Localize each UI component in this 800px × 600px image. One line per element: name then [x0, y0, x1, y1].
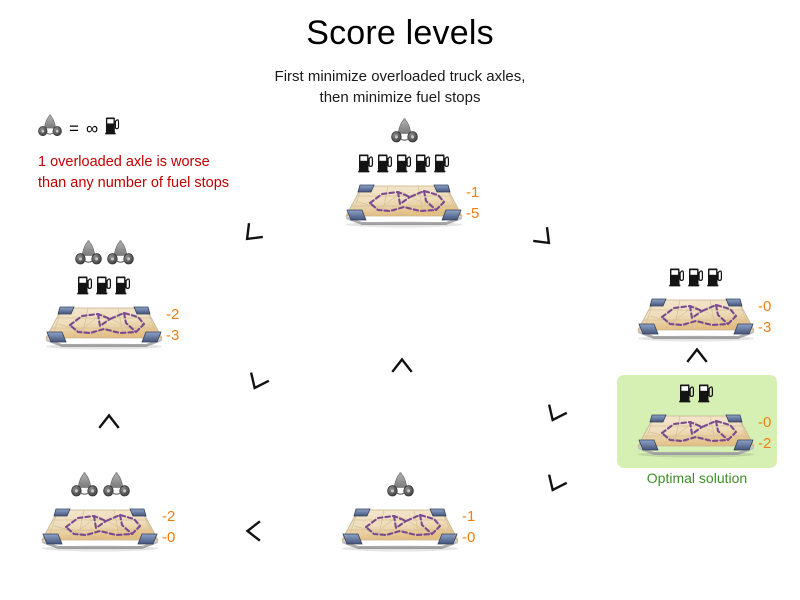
fuel-pump-icon: [115, 275, 131, 300]
fuel-pump-icon: [679, 383, 695, 408]
solution-node-top-center: -1-5: [340, 118, 468, 228]
soft-score: -5: [466, 203, 479, 224]
fuel-pump-glyph: [358, 153, 374, 173]
overloaded-axle-icon: [71, 472, 98, 502]
subtitle-line-1: First minimize overloaded truck axles,: [0, 66, 800, 87]
fuel-pump-glyph: [105, 116, 120, 135]
less-than-operator-right-upper: [680, 338, 714, 372]
overloaded-axle-glyph: [391, 118, 418, 143]
overloaded-axle-icon: [387, 472, 414, 502]
fuel-pump-glyph: [415, 153, 431, 173]
less-than-glyph: [385, 348, 419, 382]
fuel-pump-glyph: [396, 153, 412, 173]
solution-node-bottom-left: -2-0: [36, 472, 164, 552]
route-map[interactable]: -2-3: [40, 302, 168, 350]
score-labels: -1-0: [462, 506, 475, 548]
legend-warning-note: 1 overloaded axle is worse than any numb…: [38, 152, 338, 193]
score-labels: -2-3: [166, 304, 179, 346]
overloaded-axle-icon: [103, 472, 130, 502]
hard-score: -1: [462, 506, 475, 527]
fuel-pump-icon: [96, 275, 112, 300]
soft-score: -3: [758, 317, 771, 338]
infinity-symbol: ∞: [86, 120, 98, 137]
fuel-pump-glyph: [679, 383, 695, 403]
soft-score: -3: [166, 325, 179, 346]
score-labels: -0-3: [758, 296, 771, 338]
score-labels: -0-2: [758, 412, 771, 454]
equals-sign: =: [69, 120, 79, 137]
less-than-glyph: [680, 338, 714, 372]
fuel-stop-icon-row: [40, 270, 168, 300]
hard-score: -0: [758, 412, 771, 433]
fuel-pump-icon: [669, 267, 685, 292]
less-than-operator-top-right: [528, 222, 562, 256]
overloaded-axle-glyph: [71, 472, 98, 497]
fuel-pump-icon: [377, 153, 393, 178]
soft-score: -2: [758, 433, 771, 454]
overloaded-axle-glyph: [387, 472, 414, 497]
overloaded-axle-icon: [75, 240, 102, 270]
fuel-stop-icon-row: [340, 148, 468, 178]
solution-node-left-upper: -2-3: [40, 240, 168, 350]
fuel-pump-icon: [358, 153, 374, 178]
overloaded-axle-glyph: [107, 240, 134, 265]
fuel-pump-icon: [105, 116, 120, 140]
vehicle-routing-map-glyph: [632, 294, 760, 342]
fuel-pump-glyph: [377, 153, 393, 173]
hard-score: -2: [166, 304, 179, 325]
page-title: Score levels: [0, 13, 800, 53]
overloaded-axle-icon: [38, 114, 62, 142]
less-than-glyph: [532, 392, 577, 437]
overloaded-axle-icon-row: [336, 472, 464, 502]
solution-node-bottom-center: -1-0: [336, 472, 464, 552]
less-than-glyph: [234, 360, 279, 405]
soft-score: -0: [162, 527, 175, 548]
page-subtitle: First minimize overloaded truck axles, t…: [0, 66, 800, 108]
less-than-operator-mid-left: [240, 366, 274, 400]
less-than-operator-top-left: [234, 218, 268, 252]
overloaded-axle-glyph: [103, 472, 130, 497]
less-than-operator-bottom: [236, 514, 270, 548]
less-than-glyph: [521, 215, 569, 263]
fuel-pump-icon: [688, 267, 704, 292]
route-map[interactable]: -0-3: [632, 294, 760, 342]
optimal-solution-label: Optimal solution: [617, 470, 777, 486]
fuel-pump-icon: [698, 383, 714, 408]
subtitle-line-2: then minimize fuel stops: [0, 87, 800, 108]
fuel-stop-icon-row: [632, 262, 760, 292]
fuel-pump-glyph: [707, 267, 723, 287]
hard-score: -1: [466, 182, 479, 203]
score-labels: -1-5: [466, 182, 479, 224]
fuel-pump-icon: [707, 267, 723, 292]
hard-score: -0: [758, 296, 771, 317]
hard-score: -2: [162, 506, 175, 527]
vehicle-routing-map-glyph: [336, 504, 464, 552]
fuel-pump-icon: [434, 153, 450, 178]
vehicle-routing-map-glyph: [40, 302, 168, 350]
fuel-pump-glyph: [434, 153, 450, 173]
legend: = ∞ 1 overloaded axle is worse than any …: [38, 113, 338, 193]
less-than-glyph: [92, 404, 126, 438]
fuel-pump-icon: [415, 153, 431, 178]
fuel-pump-glyph: [688, 267, 704, 287]
less-than-operator-lower-right: [538, 468, 572, 502]
less-than-glyph: [532, 462, 577, 507]
fuel-pump-glyph: [698, 383, 714, 403]
less-than-operator-center: [385, 348, 419, 382]
fuel-pump-glyph: [77, 275, 93, 295]
less-than-glyph: [236, 514, 270, 548]
score-labels: -2-0: [162, 506, 175, 548]
solution-node-right-upper: -0-3: [632, 262, 760, 342]
fuel-pump-icon: [77, 275, 93, 300]
soft-score: -0: [462, 527, 475, 548]
score-levels-diagram: Score levels First minimize overloaded t…: [0, 0, 800, 600]
overloaded-axle-glyph: [38, 114, 62, 137]
overloaded-axle-glyph: [75, 240, 102, 265]
legend-equation: = ∞: [38, 113, 338, 143]
vehicle-routing-map-glyph: [632, 410, 760, 458]
fuel-pump-glyph: [115, 275, 131, 295]
overloaded-axle-icon: [391, 118, 418, 148]
route-map[interactable]: -2-0: [36, 504, 164, 552]
overloaded-axle-icon: [107, 240, 134, 270]
route-map[interactable]: -1-0: [336, 504, 464, 552]
vehicle-routing-map-glyph: [36, 504, 164, 552]
less-than-operator-mid-right: [538, 398, 572, 432]
fuel-pump-glyph: [669, 267, 685, 287]
overloaded-axle-icon-row: [340, 118, 468, 148]
fuel-pump-icon: [396, 153, 412, 178]
less-than-glyph: [227, 211, 275, 259]
overloaded-axle-icon-row: [36, 472, 164, 502]
vehicle-routing-map-glyph: [340, 180, 468, 228]
fuel-pump-glyph: [96, 275, 112, 295]
solution-node-optimal: -0-2: [632, 378, 760, 458]
route-map[interactable]: -0-2: [632, 410, 760, 458]
route-map[interactable]: -1-5: [340, 180, 468, 228]
fuel-stop-icon-row: [632, 378, 760, 408]
overloaded-axle-icon-row: [40, 240, 168, 270]
less-than-operator-lower-left: [92, 404, 126, 438]
